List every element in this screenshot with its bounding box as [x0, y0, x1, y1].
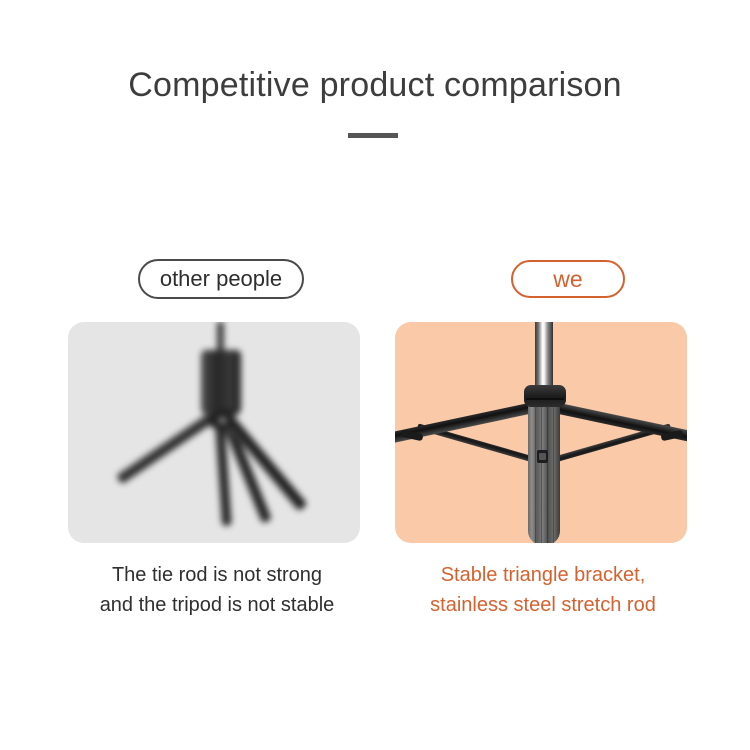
caption-other-people-line2: and the tripod is not stable: [66, 590, 368, 620]
column-rib-4: [553, 400, 554, 543]
tripod-illustration-stable: [395, 322, 687, 543]
product-image-panel-other-people: [68, 322, 360, 543]
column-rib-1: [535, 400, 536, 543]
badge-other-people: other people: [138, 259, 304, 299]
tripod-hub-screw: [218, 417, 227, 424]
badge-we: we: [511, 260, 624, 298]
comparison-column-other-people: other people The tie rod is not strong a…: [56, 255, 368, 620]
comparison-column-we: we: [380, 255, 692, 620]
tripod-leg-4: [221, 412, 307, 512]
caption-we: Stable triangle bracket, stainless steel…: [394, 560, 692, 620]
badge-we-wrap: we: [380, 255, 692, 303]
page-title: Competitive product comparison: [0, 66, 750, 105]
tripod-leg-1: [116, 409, 220, 484]
caption-other-people: The tie rod is not strong and the tripod…: [66, 560, 368, 620]
column-rib-2: [541, 400, 542, 543]
comparison-row: other people The tie rod is not strong a…: [0, 255, 750, 655]
tripod-illustration-weak: [68, 322, 360, 543]
badge-other-people-wrap: other people: [56, 255, 368, 303]
column-rib-3: [547, 400, 548, 543]
tripod-hub-collar: [524, 385, 566, 407]
tripod-center-column: [528, 400, 560, 543]
tripod-hub-seam: [526, 398, 564, 400]
caption-other-people-line1: The tie rod is not strong: [66, 560, 368, 590]
title-underline-rule: [348, 133, 398, 138]
tripod-body-cylinder: [201, 350, 241, 416]
tripod-latch-inner: [539, 453, 546, 460]
caption-we-line1: Stable triangle bracket,: [394, 560, 692, 590]
caption-we-line2: stainless steel stretch rod: [394, 590, 692, 620]
stainless-steel-stretch-rod: [535, 322, 553, 392]
product-image-panel-we: [395, 322, 687, 543]
